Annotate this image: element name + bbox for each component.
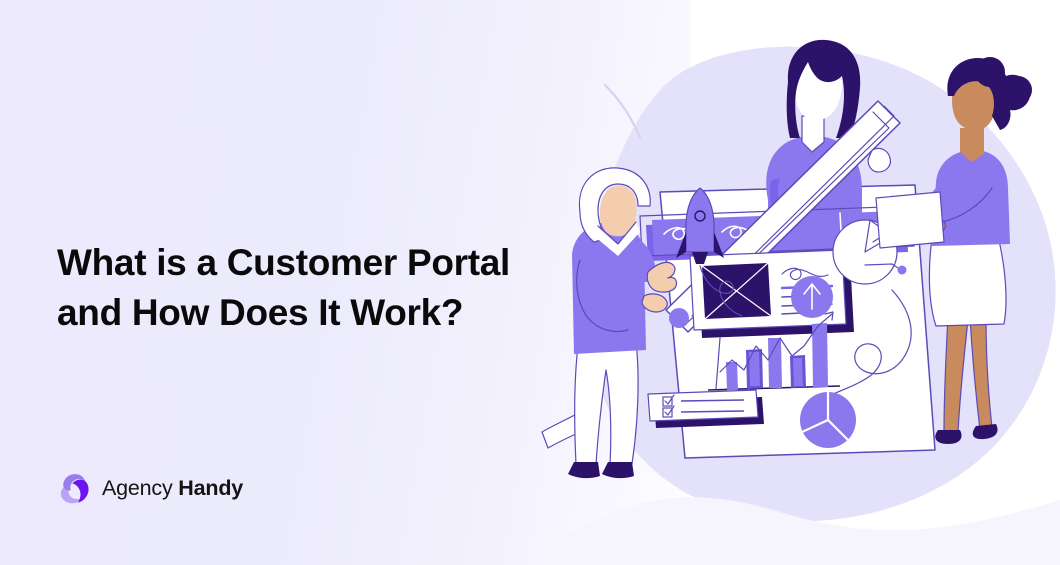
page-title-line-2: and How Does It Work?: [57, 288, 537, 338]
article-hero-banner: .p-fill { fill:#8b78ee; } .p-mid { fill:…: [0, 0, 1060, 565]
brand-name-bold: Handy: [178, 476, 243, 500]
page-title: What is a Customer Portal and How Does I…: [57, 238, 537, 339]
page-title-line-1: What is a Customer Portal: [57, 238, 537, 288]
brand-name-light: Agency: [102, 476, 178, 500]
banner-content: What is a Customer Portal and How Does I…: [0, 0, 1060, 565]
triskelion-swirl-icon: [56, 471, 91, 506]
brand-logo[interactable]: Agency Handy: [56, 471, 243, 506]
brand-name: Agency Handy: [102, 476, 243, 501]
